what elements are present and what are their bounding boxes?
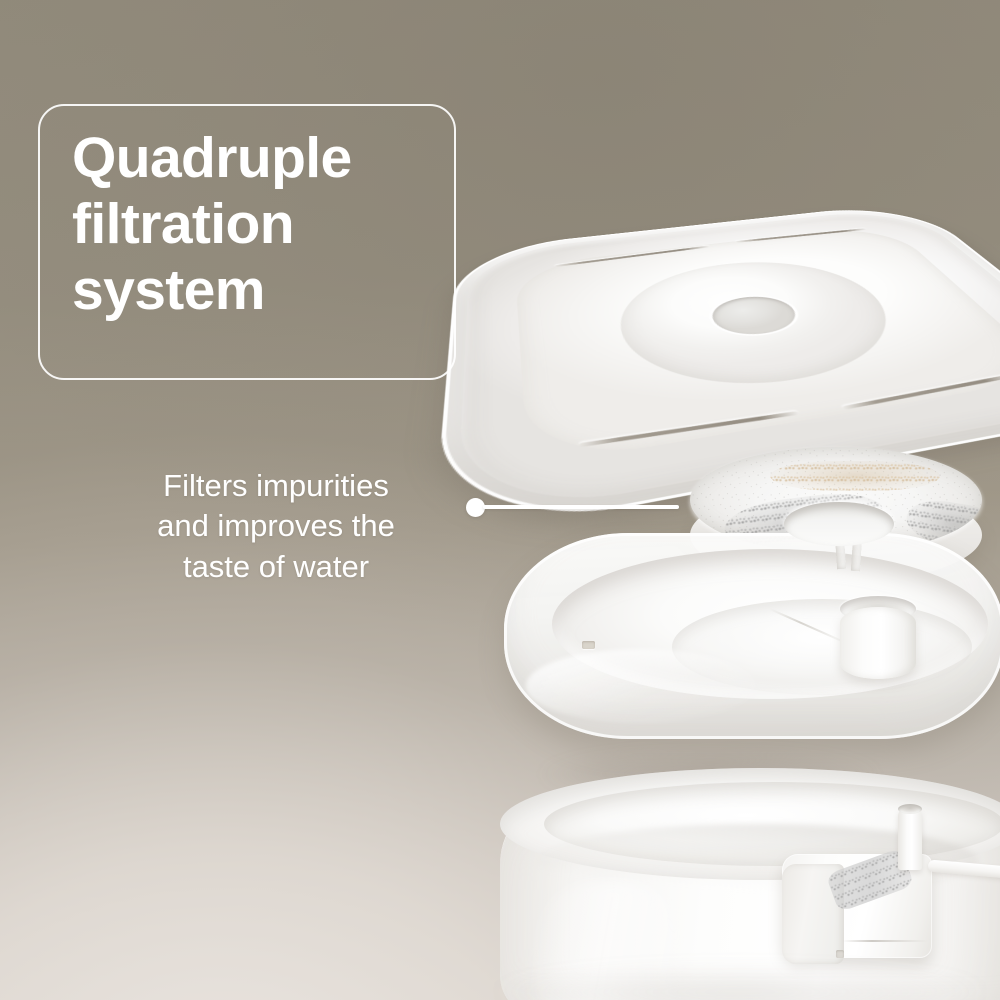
pump-notch (836, 950, 844, 958)
lid-slot (842, 374, 1000, 410)
pump-seam-line (842, 940, 928, 942)
lid-slot (579, 411, 799, 447)
tray-body (504, 533, 1000, 739)
product-infographic-scene: Quadruple filtration system Filters impu… (0, 0, 1000, 1000)
tray-spout-column (840, 607, 916, 679)
filter-media-ion-exchange-resin (770, 461, 940, 491)
callout-leader-line-icon (483, 505, 679, 509)
tray-edge-highlight (526, 649, 756, 723)
product-part-pump-module (782, 854, 932, 958)
lid-center-dome (606, 251, 930, 403)
page-title: Quadruple filtration system (72, 125, 472, 323)
filter-center-hole (784, 502, 894, 546)
callout-description: Filters impurities and improves the tast… (104, 466, 448, 587)
product-part-top-lid (445, 192, 1000, 397)
pump-outlet-tube (898, 808, 922, 870)
pump-outlet-opening (898, 804, 922, 814)
product-part-water-tray (488, 515, 1000, 775)
tray-vent-slot (582, 641, 595, 649)
lid-center-hole (705, 293, 806, 340)
